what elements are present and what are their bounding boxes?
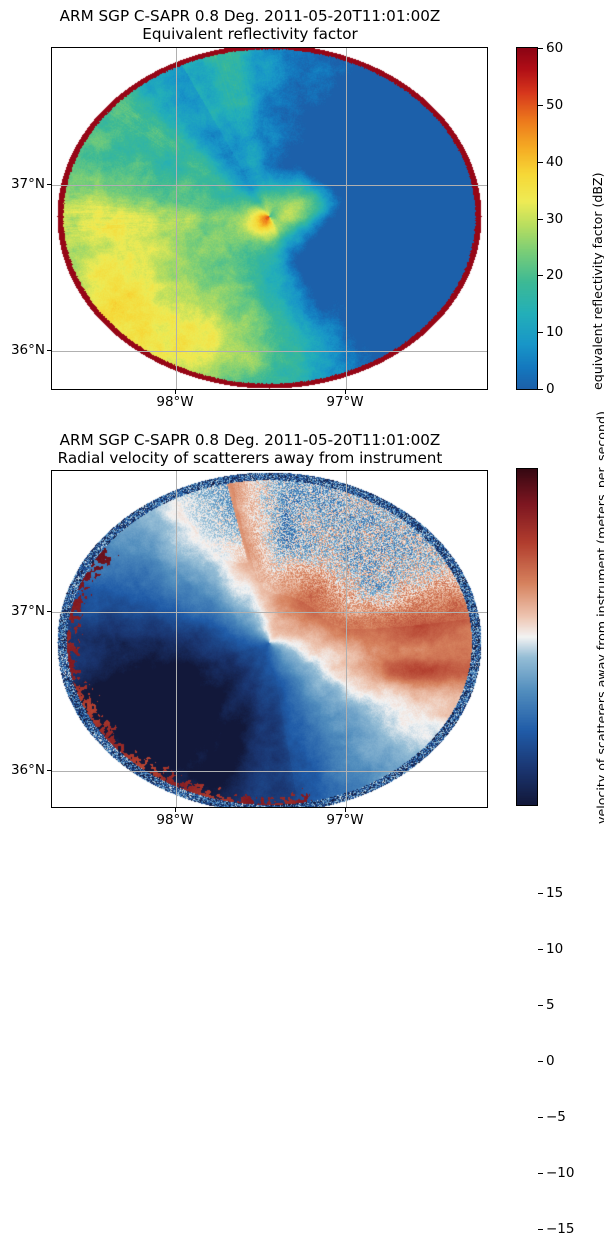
xtick-label-98w: 98°W — [156, 812, 193, 828]
xtick-label-97w: 97°W — [326, 394, 363, 410]
gridline-horizontal-36n — [52, 771, 487, 772]
y-axis-tick — [47, 770, 51, 771]
velocity-title-line2: Radial velocity of scatterers away from … — [0, 449, 500, 467]
reflectivity-colorbar-label: equivalent reflectivity factor (dBZ) — [590, 172, 604, 390]
colorbar-tick-label: 60 — [546, 40, 563, 56]
colorbar-tick-label: 50 — [546, 97, 563, 113]
colorbar-tick-label: 10 — [546, 324, 563, 340]
reflectivity-title-line1: ARM SGP C-SAPR 0.8 Deg. 2011-05-20T11:01… — [0, 7, 500, 25]
colorbar-tick-label: 30 — [546, 211, 563, 227]
reflectivity-xtick-labels: 98°W 97°W — [0, 394, 604, 414]
velocity-colorbar[interactable] — [516, 468, 538, 806]
colorbar-tick-label: 0 — [546, 381, 555, 397]
colorbar-tick-mark — [538, 1173, 543, 1174]
gridline-horizontal-37n — [52, 185, 487, 186]
reflectivity-title-line2: Equivalent reflectivity factor — [0, 25, 500, 43]
colorbar-tick-mark — [538, 1229, 543, 1230]
x-axis-tick — [345, 808, 346, 812]
velocity-colorbar-gradient — [517, 469, 537, 805]
colorbar-tick-label: 5 — [546, 997, 555, 1013]
gridline-vertical-98w — [176, 471, 177, 807]
colorbar-tick-mark — [538, 275, 543, 276]
colorbar-tick-mark — [538, 162, 543, 163]
colorbar-tick-label: −15 — [546, 1221, 575, 1237]
colorbar-tick-label: −5 — [546, 1109, 566, 1125]
y-axis-tick — [47, 350, 51, 351]
reflectivity-field — [52, 48, 488, 390]
velocity-title: ARM SGP C-SAPR 0.8 Deg. 2011-05-20T11:01… — [0, 431, 500, 467]
colorbar-tick-mark — [538, 949, 543, 950]
ytick-label-37n: 37°N — [11, 176, 45, 192]
ytick-label-37n: 37°N — [11, 603, 45, 619]
xtick-label-98w: 98°W — [156, 394, 193, 410]
colorbar-tick-label: −10 — [546, 1165, 575, 1181]
colorbar-tick-mark — [538, 332, 543, 333]
velocity-xtick-labels: 98°W 97°W — [0, 812, 604, 832]
y-axis-tick — [47, 611, 51, 612]
velocity-axes[interactable] — [51, 470, 488, 808]
colorbar-tick-mark — [538, 1061, 543, 1062]
colorbar-tick-mark — [538, 389, 543, 390]
velocity-ytick-labels: 37°N 36°N — [0, 424, 45, 848]
colorbar-tick-mark — [538, 219, 543, 220]
reflectivity-colorbar-gradient — [517, 48, 537, 389]
colorbar-tick-label: 40 — [546, 154, 563, 170]
colorbar-tick-mark — [538, 893, 543, 894]
colorbar-tick-label: 20 — [546, 267, 563, 283]
reflectivity-title: ARM SGP C-SAPR 0.8 Deg. 2011-05-20T11:01… — [0, 7, 500, 43]
reflectivity-axes[interactable] — [51, 47, 488, 390]
ytick-label-36n: 36°N — [11, 342, 45, 358]
x-axis-tick — [175, 808, 176, 812]
x-axis-tick — [345, 390, 346, 394]
x-axis-tick — [175, 390, 176, 394]
gridline-vertical-97w — [346, 48, 347, 389]
colorbar-tick-label: 15 — [546, 885, 563, 901]
y-axis-tick — [47, 184, 51, 185]
gridline-vertical-98w — [176, 48, 177, 389]
colorbar-tick-label: 10 — [546, 941, 563, 957]
colorbar-tick-mark — [538, 105, 543, 106]
ytick-label-36n: 36°N — [11, 762, 45, 778]
reflectivity-colorbar[interactable] — [516, 47, 538, 390]
gridline-vertical-97w — [346, 471, 347, 807]
reflectivity-ytick-labels: 37°N 36°N — [0, 0, 45, 424]
colorbar-tick-mark — [538, 1005, 543, 1006]
reflectivity-panel: ARM SGP C-SAPR 0.8 Deg. 2011-05-20T11:01… — [0, 0, 604, 424]
xtick-label-97w: 97°W — [326, 812, 363, 828]
colorbar-tick-mark — [538, 1117, 543, 1118]
gridline-horizontal-37n — [52, 612, 487, 613]
colorbar-tick-label: 0 — [546, 1053, 555, 1069]
velocity-panel: ARM SGP C-SAPR 0.8 Deg. 2011-05-20T11:01… — [0, 424, 604, 848]
velocity-title-line1: ARM SGP C-SAPR 0.8 Deg. 2011-05-20T11:01… — [0, 431, 500, 449]
velocity-colorbar-label: velocity of scatterers away from instrum… — [594, 411, 604, 824]
gridline-horizontal-36n — [52, 351, 487, 352]
velocity-field — [52, 471, 488, 808]
colorbar-tick-mark — [538, 48, 543, 49]
